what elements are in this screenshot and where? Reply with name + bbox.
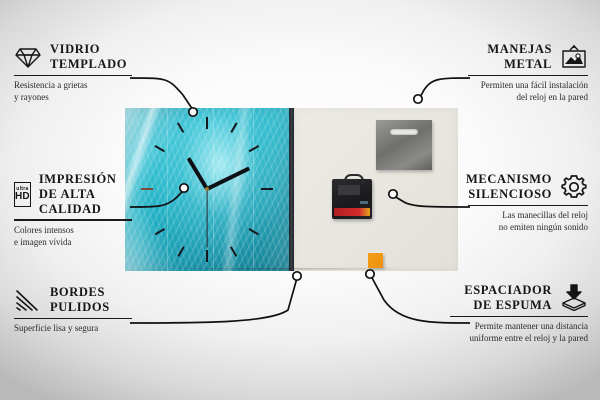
gear-icon	[560, 174, 588, 200]
callout-rule	[14, 75, 132, 77]
face-panel-line	[167, 108, 168, 271]
callout-title: IMPRESIÓN DE ALTA CALIDAD	[39, 172, 132, 216]
callout-header: MANEJAS METAL	[468, 42, 588, 72]
callout-header: ultra HD IMPRESIÓN DE ALTA CALIDAD	[14, 172, 132, 216]
callout-title: ESPACIADOR DE ESPUMA	[450, 283, 552, 313]
callout-espaciador-de-espuma[interactable]: ESPACIADOR DE ESPUMA Permite mantener un…	[450, 283, 588, 344]
callout-header: MECANISMO SILENCIOSO	[468, 172, 588, 202]
face-panel-line	[213, 108, 214, 271]
callout-description: Permiten una fácil instalación del reloj…	[468, 79, 588, 103]
callout-header: ESPACIADOR DE ESPUMA	[450, 283, 588, 313]
callout-title: MECANISMO SILENCIOSO	[466, 172, 552, 202]
infographic-canvas: VIDRIO TEMPLADO Resistencia a grietas y …	[0, 0, 600, 400]
clock-center-cap	[205, 187, 209, 191]
callout-rule	[468, 205, 588, 207]
connector-bordes	[130, 278, 297, 323]
product-photo	[125, 108, 458, 271]
callout-description: Superficie lisa y segura	[14, 322, 132, 334]
callout-rule	[468, 75, 588, 77]
callout-rule	[14, 318, 132, 320]
clock-front-face	[125, 108, 289, 271]
clock-tick	[206, 117, 208, 129]
clock-tick	[261, 188, 273, 190]
callout-manejas-metal[interactable]: MANEJAS METAL Permiten una fácil instala…	[468, 42, 588, 103]
clock-mechanism	[332, 179, 372, 219]
clock-tick	[206, 250, 208, 262]
callout-rule	[14, 219, 132, 221]
clock-back-panel	[294, 108, 458, 271]
diamond-icon	[14, 45, 42, 69]
clock-tick	[141, 188, 153, 190]
metal-hanger-plate	[376, 120, 432, 170]
callout-title: VIDRIO TEMPLADO	[50, 42, 132, 72]
connector-dot-manejas	[414, 95, 422, 103]
callout-mecanismo-silencioso[interactable]: MECANISMO SILENCIOSO Las manecillas del …	[468, 172, 588, 233]
callout-impresion-alta-calidad[interactable]: ultra HD IMPRESIÓN DE ALTA CALIDAD Color…	[14, 172, 132, 248]
foam-spacer-part	[368, 253, 383, 268]
clock-second-hand	[206, 190, 207, 248]
ultra-hd-icon-bottom: HD	[15, 192, 30, 202]
callout-title: BORDES PULIDOS	[50, 285, 132, 315]
callout-description: Permite mantener una distancia uniforme …	[450, 320, 588, 344]
mechanism-loop	[344, 174, 364, 184]
mechanism-detail	[360, 201, 368, 204]
picture-hanger-icon	[560, 44, 588, 69]
product-drop-shadow	[127, 268, 457, 275]
hanger-slot	[390, 129, 418, 135]
callout-title: MANEJAS METAL	[468, 42, 552, 72]
callout-header: VIDRIO TEMPLADO	[14, 42, 132, 72]
callout-bordes-pulidos[interactable]: BORDES PULIDOS Superficie lisa y segura	[14, 285, 132, 334]
callout-vidrio-templado[interactable]: VIDRIO TEMPLADO Resistencia a grietas y …	[14, 42, 132, 103]
ultra-hd-icon: ultra HD	[14, 182, 31, 207]
foam-spacer-icon	[560, 284, 588, 311]
mechanism-battery	[334, 208, 370, 216]
connector-manejas	[418, 78, 470, 101]
mechanism-detail	[338, 185, 360, 195]
polished-edges-icon	[14, 288, 42, 312]
callout-rule	[450, 316, 588, 318]
connector-vidrio-templado	[130, 78, 193, 110]
callout-description: Colores intensos e imagen vívida	[14, 224, 132, 248]
face-panel-line	[253, 108, 254, 271]
callout-description: Resistencia a grietas y rayones	[14, 79, 132, 103]
callout-description: Las manecillas del reloj no emiten ningú…	[468, 209, 588, 233]
callout-header: BORDES PULIDOS	[14, 285, 132, 315]
